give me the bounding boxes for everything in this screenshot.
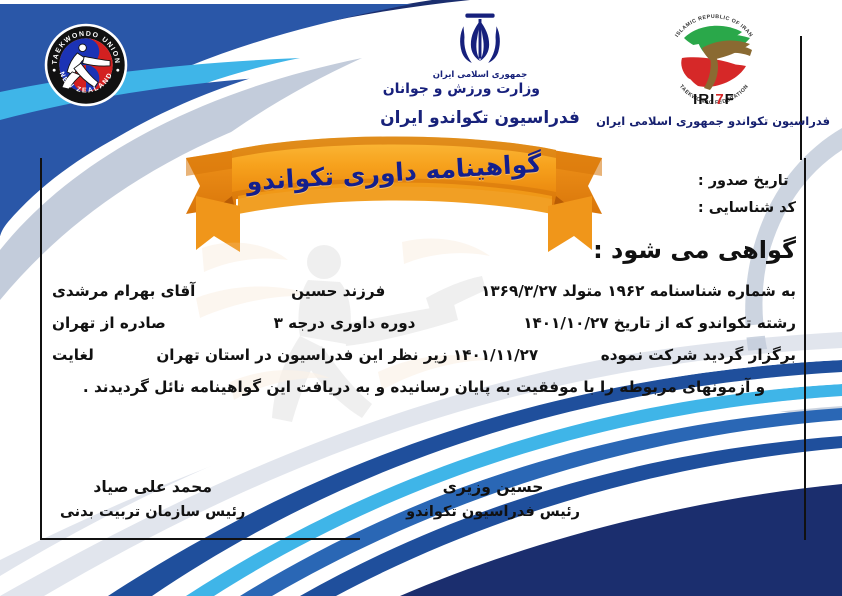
signature-name: محمد علی صیاد: [60, 478, 245, 496]
body-line-3-mid: ۱۴۰۱/۱۱/۲۷ زیر نظر این فدراسیون در استان…: [156, 346, 538, 364]
body-line-3: برگزار گردید شرکت نموده ۱۴۰۱/۱۱/۲۷ زیر ن…: [52, 346, 796, 364]
iran-taekwondo-federation-logo: ISLAMIC REPUBLIC OF IRAN TAEKWONDO FEDER…: [648, 4, 780, 116]
body-line-2: رشته تکواندو که از تاریخ ۱۴۰۱/۱۰/۲۷ دوره…: [52, 314, 796, 332]
signature-physical-education-head: محمد علی صیاد رئیس سازمان تربیت بدنی: [60, 478, 245, 520]
taekwondo-union-new-zealand-logo: TAEKWONDO UNION NEW ZEALAND: [43, 22, 129, 108]
signature-block: حسین وزیری رئیس فدراسیون تکواندو محمد عل…: [60, 478, 580, 520]
iran-taekwondo-federation-label: فدراسیون تکواندو ایران: [330, 108, 630, 128]
certificate-frame-bottom-rule: [40, 538, 360, 540]
body-line-3-right: لغایت: [52, 346, 94, 364]
body-line-1: به شماره شناسنامه ۱۹۶۲ متولد ۱۳۶۹/۳/۲۷ ف…: [52, 282, 796, 300]
body-line-3-left: برگزار گردید شرکت نموده: [601, 346, 796, 364]
certificate-page: TAEKWONDO UNION NEW ZEALAND جمهوری اسلام…: [0, 0, 842, 596]
body-line-1-left: به شماره شناسنامه ۱۹۶۲ متولد ۱۳۶۹/۳/۲۷: [481, 282, 796, 300]
signature-federation-president: حسین وزیری رئیس فدراسیون تکواندو: [406, 478, 580, 520]
iran-emblem-caption-line1: جمهوری اسلامی ایران: [420, 70, 540, 80]
signature-role: رئیس سازمان تربیت بدنی: [60, 504, 245, 520]
body-line-2-right: صادره از تهران: [52, 314, 166, 332]
body-line-2-mid: دوره داوری درجه ۳: [274, 314, 416, 332]
body-line-1-right: آقای بهرام مرشدی: [52, 282, 195, 300]
signature-role: رئیس فدراسیون تکواندو: [406, 504, 580, 520]
issue-date-label: تاریخ صدور :: [698, 168, 796, 195]
ministry-of-sport-label: وزارت ورزش و جوانان: [420, 81, 540, 97]
certificate-body: به شماره شناسنامه ۱۹۶۲ متولد ۱۳۶۹/۳/۲۷ ف…: [52, 282, 796, 410]
body-line-2-left: رشته تکواندو که از تاریخ ۱۴۰۱/۱۰/۲۷: [523, 314, 796, 332]
body-line-1-mid: فرزند حسین: [291, 282, 385, 300]
body-line-4: و آزمونهای مربوطه را با موفقیت به پایان …: [52, 378, 796, 396]
id-code-label: کد شناسایی :: [698, 195, 796, 222]
svg-text:IRI7F: IRI7F: [693, 91, 735, 108]
certify-headline: گواهی می شود :: [593, 236, 796, 264]
certificate-frame-right-upper-rule: [800, 36, 802, 160]
iritf-caption: فدراسیون تکواندو جمهوری اسلامی ایران: [598, 114, 830, 128]
certificate-meta-fields: تاریخ صدور : کد شناسایی :: [698, 168, 796, 222]
signature-name: حسین وزیری: [406, 478, 580, 496]
iran-emblem-icon: [443, 8, 517, 72]
